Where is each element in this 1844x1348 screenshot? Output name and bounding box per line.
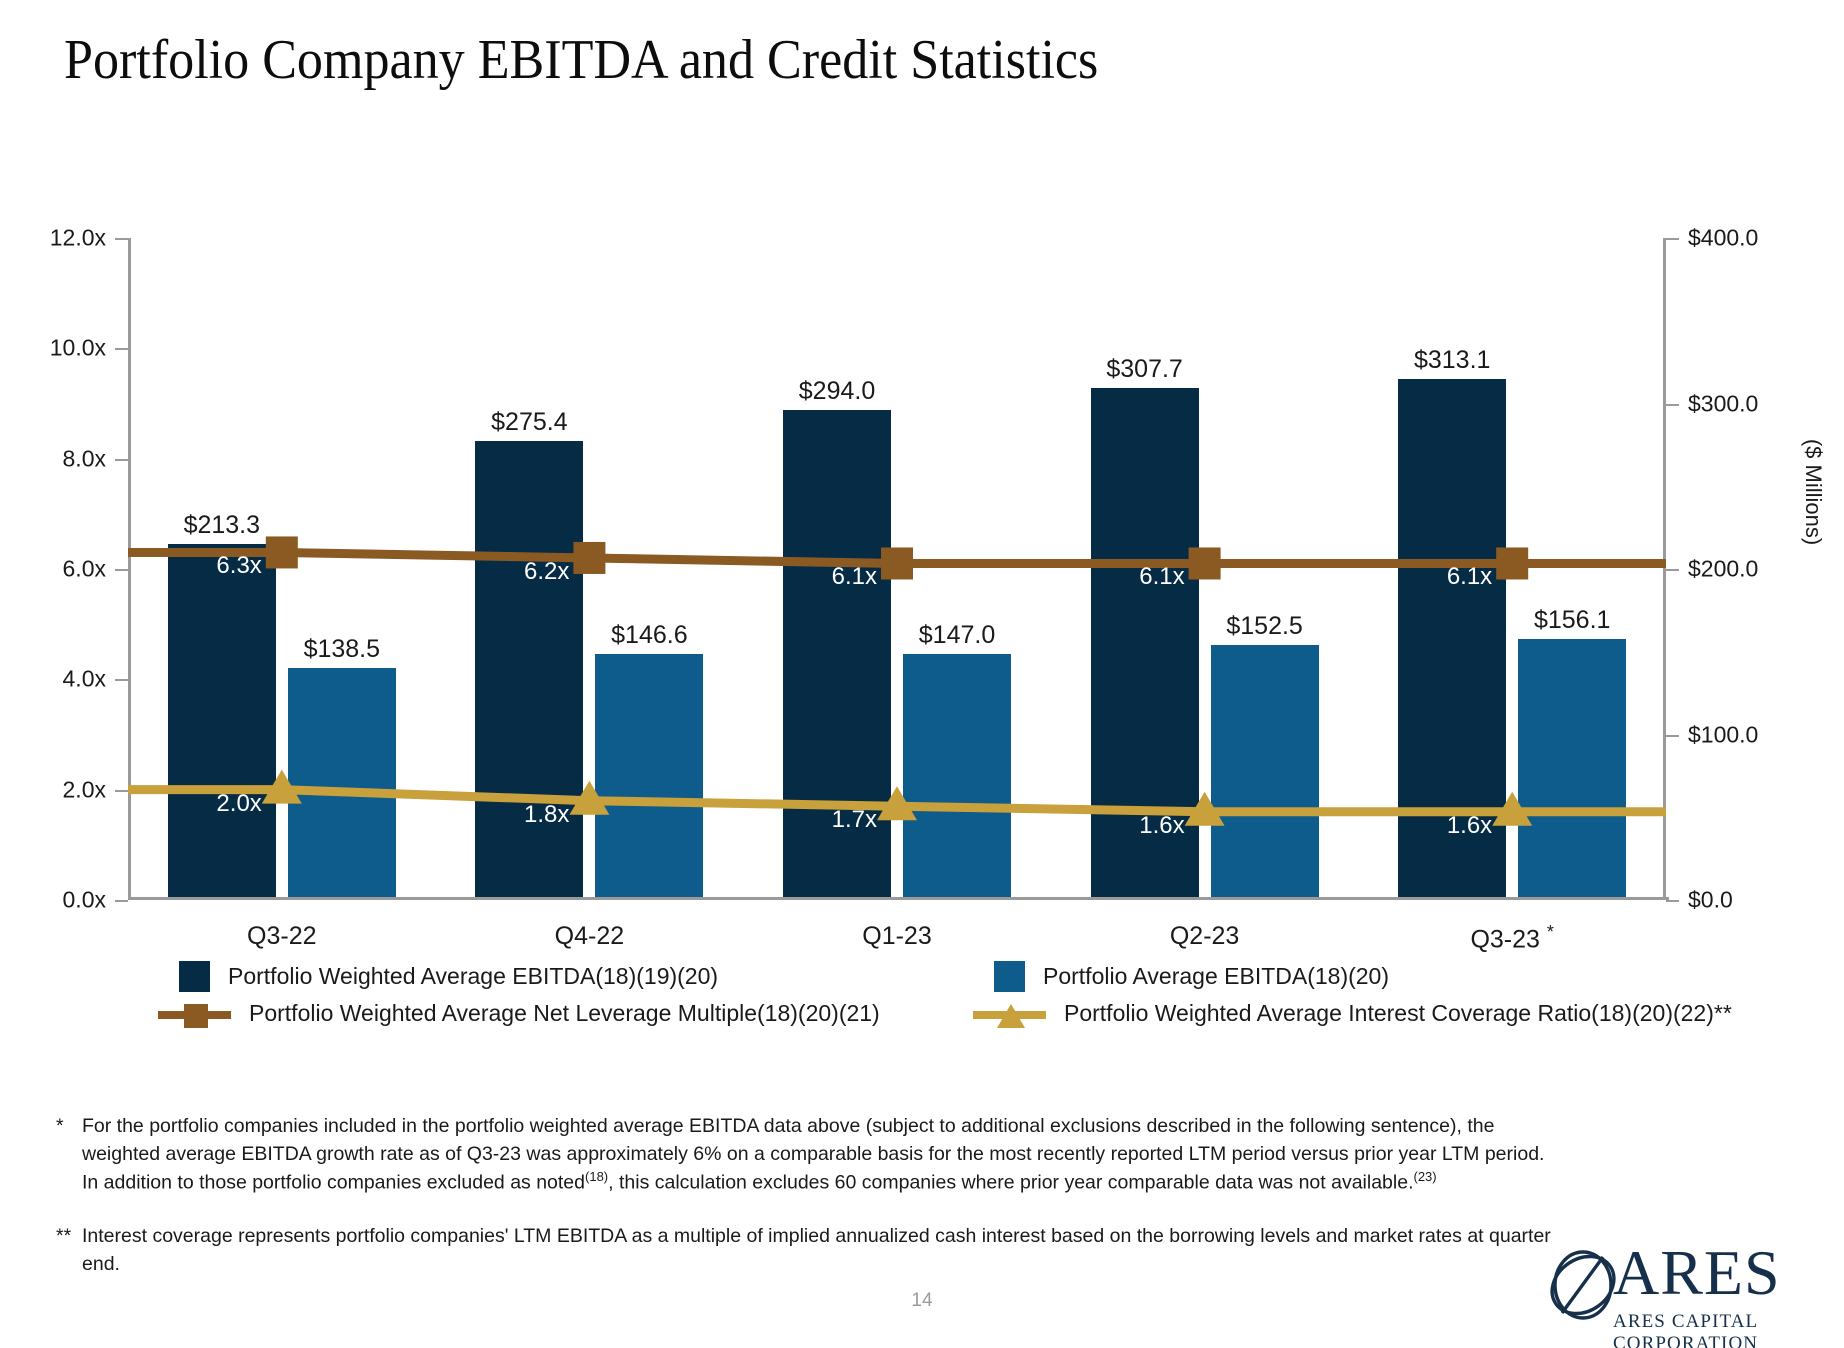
bar-value-label: $213.3 bbox=[184, 511, 260, 540]
right-axis-tick-label: $100.0 bbox=[1688, 721, 1758, 748]
footnote-marker-2: ** bbox=[56, 1222, 82, 1278]
bar-value-label: $146.6 bbox=[611, 621, 687, 650]
right-axis-tick-label: $0.0 bbox=[1688, 887, 1733, 914]
right-axis-tick-label: $200.0 bbox=[1688, 556, 1758, 583]
left-tick bbox=[115, 679, 128, 681]
line-value-label: 1.6x bbox=[1447, 812, 1492, 840]
ares-orbit-icon bbox=[1545, 1243, 1623, 1325]
legend-label-weighted-avg-ebitda: Portfolio Weighted Average EBITDA(18)(19… bbox=[228, 963, 718, 990]
left-tick bbox=[115, 348, 128, 350]
x-axis-label: Q4-22 bbox=[555, 922, 624, 951]
legend-item-net-leverage[interactable]: Portfolio Weighted Average Net Leverage … bbox=[158, 995, 880, 1032]
footnote-marker-1: * bbox=[56, 1112, 82, 1197]
bar-blue bbox=[1211, 645, 1319, 897]
left-axis-tick-label: 12.0x bbox=[50, 225, 106, 252]
footnote-asterisk: * For the portfolio companies included i… bbox=[56, 1112, 1556, 1197]
line-value-label: 6.2x bbox=[524, 558, 569, 586]
logo-wordmark: ARES bbox=[1613, 1241, 1781, 1305]
legend-label-interest-coverage: Portfolio Weighted Average Interest Cove… bbox=[1064, 1000, 1732, 1027]
slide-root: Portfolio Company EBITDA and Credit Stat… bbox=[0, 0, 1844, 1348]
x-axis-line bbox=[128, 897, 1669, 900]
footnote-text-2: Interest coverage represents portfolio c… bbox=[82, 1222, 1556, 1278]
bar-value-label: $138.5 bbox=[304, 635, 380, 664]
legend-column-left: Portfolio Weighted Average EBITDA(18)(19… bbox=[158, 958, 880, 1032]
bar-value-label: $275.4 bbox=[491, 408, 567, 437]
bar-value-label: $156.1 bbox=[1534, 606, 1610, 635]
right-tick bbox=[1666, 404, 1679, 406]
chart-legend: Portfolio Weighted Average EBITDA(18)(19… bbox=[128, 958, 1688, 1036]
bar-value-label: $147.0 bbox=[919, 621, 995, 650]
bar-dark bbox=[168, 544, 276, 897]
x-axis-label: Q1-23 bbox=[862, 922, 931, 951]
line-value-label: 1.8x bbox=[524, 801, 569, 829]
x-axis-label: Q3-22 bbox=[247, 922, 316, 951]
legend-label-net-leverage: Portfolio Weighted Average Net Leverage … bbox=[249, 1000, 880, 1027]
bar-blue bbox=[1518, 639, 1626, 897]
legend-item-weighted-avg-ebitda[interactable]: Portfolio Weighted Average EBITDA(18)(19… bbox=[158, 958, 880, 995]
left-tick bbox=[115, 238, 128, 240]
line-value-label: 6.3x bbox=[216, 552, 261, 580]
x-axis-label: Q3-23 * bbox=[1470, 922, 1553, 954]
bar-value-label: $294.0 bbox=[799, 377, 875, 406]
left-tick bbox=[115, 790, 128, 792]
chart-plot-area: 0.0x2.0x4.0x6.0x8.0x10.0x12.0x $0.0$100.… bbox=[128, 238, 1666, 900]
bar-value-label: $152.5 bbox=[1226, 612, 1302, 641]
bar-blue bbox=[595, 654, 703, 897]
line-value-label: 6.1x bbox=[1139, 563, 1184, 591]
left-axis-tick-label: 8.0x bbox=[63, 445, 106, 472]
right-tick bbox=[1666, 735, 1679, 737]
line-value-label: 1.6x bbox=[1139, 812, 1184, 840]
left-tick bbox=[115, 569, 128, 571]
legend-item-avg-ebitda[interactable]: Portfolio Average EBITDA(18)(20) bbox=[973, 958, 1732, 995]
left-tick bbox=[115, 900, 128, 902]
footnotes: * For the portfolio companies included i… bbox=[56, 1112, 1556, 1278]
line-value-label: 1.7x bbox=[832, 806, 877, 834]
bar-value-label: $313.1 bbox=[1414, 346, 1490, 375]
left-tick bbox=[115, 459, 128, 461]
legend-swatch-icon-avg-ebitda bbox=[994, 961, 1025, 992]
line-value-label: 6.1x bbox=[832, 563, 877, 591]
footnote-double-asterisk: ** Interest coverage represents portfoli… bbox=[56, 1222, 1556, 1278]
ares-capital-logo: ARES ARES CAPITAL CORPORATION bbox=[1545, 1243, 1815, 1338]
legend-line-icon-interest-coverage bbox=[973, 998, 1046, 1029]
page-title: Portfolio Company EBITDA and Credit Stat… bbox=[64, 28, 1098, 92]
line-value-label: 2.0x bbox=[216, 790, 261, 818]
left-axis-line bbox=[128, 238, 131, 900]
logo-subtext: ARES CAPITAL CORPORATION bbox=[1613, 1311, 1815, 1348]
legend-swatch-icon-weighted-avg-ebitda bbox=[179, 961, 210, 992]
left-axis-tick-label: 6.0x bbox=[63, 556, 106, 583]
left-axis-tick-label: 4.0x bbox=[63, 666, 106, 693]
bar-blue bbox=[288, 668, 396, 897]
right-tick bbox=[1666, 569, 1679, 571]
legend-label-avg-ebitda: Portfolio Average EBITDA(18)(20) bbox=[1043, 963, 1389, 990]
right-axis-tick-label: $400.0 bbox=[1688, 225, 1758, 252]
left-axis-tick-label: 10.0x bbox=[50, 335, 106, 362]
legend-line-icon-net-leverage bbox=[158, 998, 231, 1029]
x-axis-label: Q2-23 bbox=[1170, 922, 1239, 951]
bar-blue bbox=[903, 654, 1011, 897]
left-axis-tick-label: 2.0x bbox=[63, 776, 106, 803]
left-axis-tick-label: 0.0x bbox=[63, 887, 106, 914]
right-axis-title: ($ Millions) bbox=[1800, 439, 1826, 545]
right-axis-tick-label: $300.0 bbox=[1688, 390, 1758, 417]
bar-value-label: $307.7 bbox=[1106, 355, 1182, 384]
right-tick bbox=[1666, 238, 1679, 240]
right-tick bbox=[1666, 900, 1679, 902]
footnote-text-1: For the portfolio companies included in … bbox=[82, 1112, 1556, 1197]
legend-item-interest-coverage[interactable]: Portfolio Weighted Average Interest Cove… bbox=[973, 995, 1732, 1032]
legend-column-right: Portfolio Average EBITDA(18)(20) Portfol… bbox=[973, 958, 1732, 1032]
line-value-label: 6.1x bbox=[1447, 563, 1492, 591]
